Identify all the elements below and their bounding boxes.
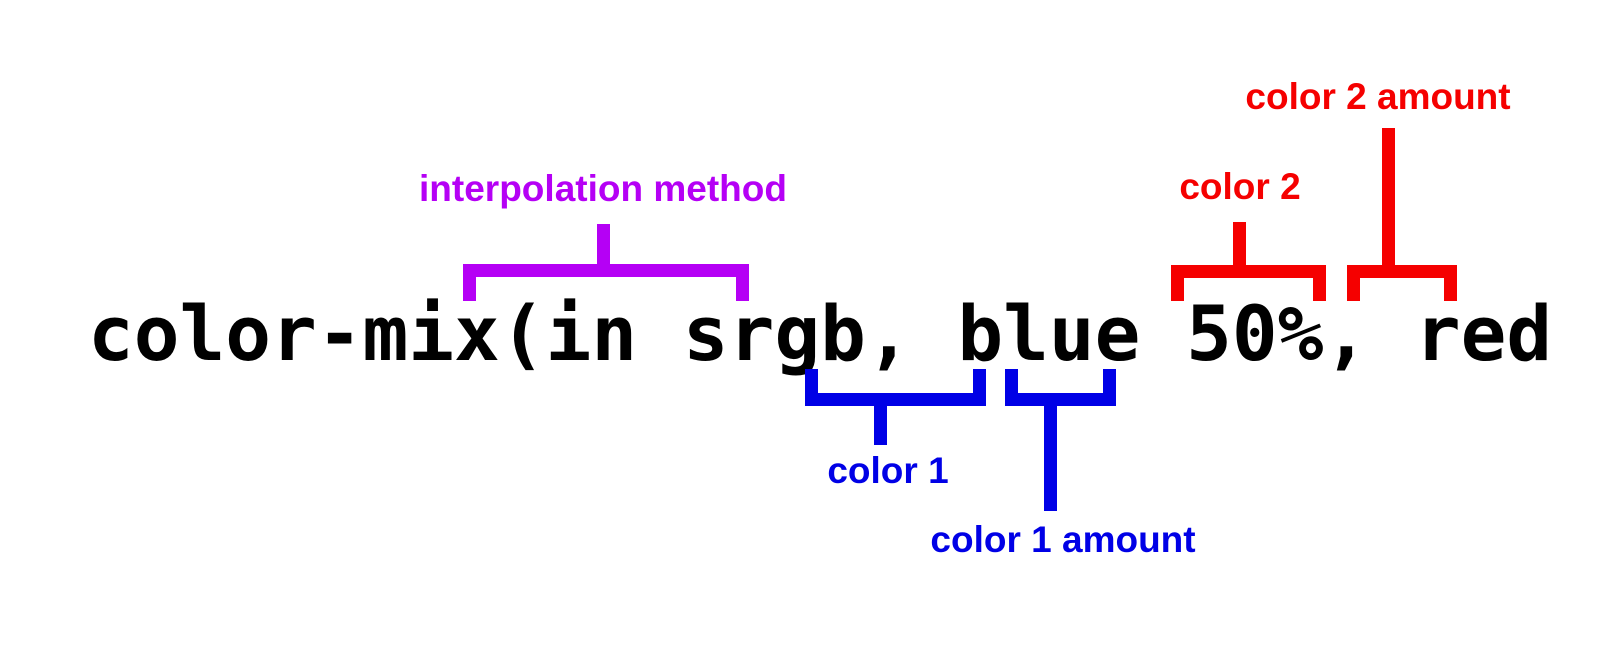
code-expression: color-mix(in srgb, blue 50%, red 50%)	[88, 296, 1600, 372]
annotation-label-interpolation-method: interpolation method	[419, 170, 787, 207]
annotation-stem-color-2-amount	[1382, 128, 1395, 268]
syntax-diagram: color 2 amount color 2 interpolation met…	[0, 0, 1600, 660]
annotation-label-color-2-amount: color 2 amount	[1245, 78, 1510, 115]
annotation-stem-color-1	[874, 405, 887, 445]
annotation-label-color-1: color 1	[827, 452, 948, 489]
annotation-stem-interpolation-method	[597, 224, 610, 268]
annotation-label-color-2: color 2	[1179, 168, 1300, 205]
annotation-stem-color-1-amount	[1044, 405, 1057, 511]
code-text: color-mix(in srgb, blue 50%, red 50%)	[88, 289, 1600, 378]
annotation-stem-color-2	[1233, 222, 1246, 268]
annotation-bracket-color-1	[805, 369, 986, 406]
annotation-label-color-1-amount: color 1 amount	[930, 521, 1195, 558]
annotation-bracket-color-1-amount	[1005, 369, 1116, 406]
